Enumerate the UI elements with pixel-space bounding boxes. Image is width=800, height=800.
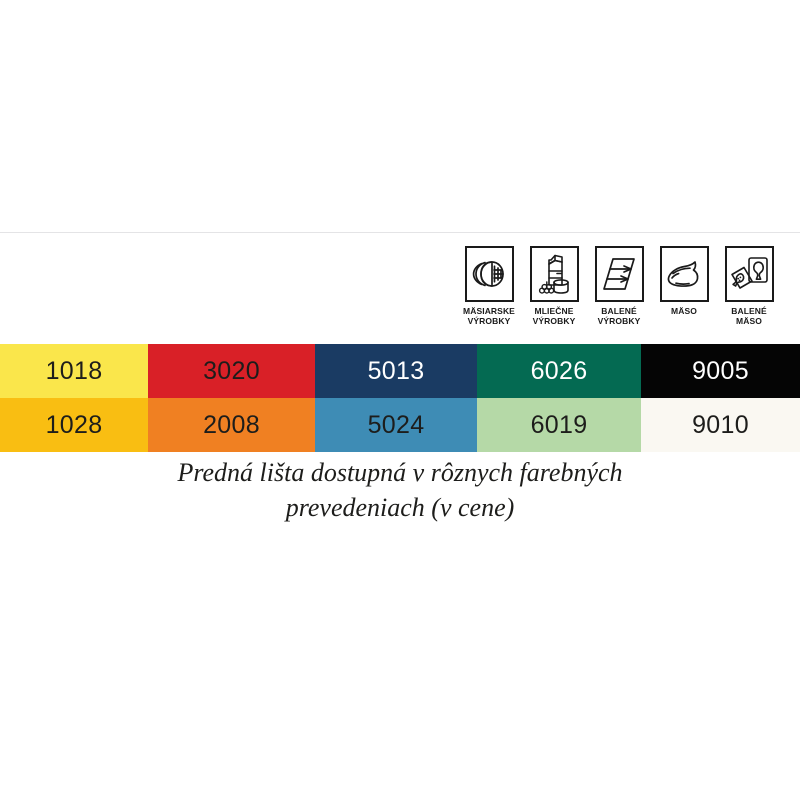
swatch-5013[interactable]: 5013	[315, 344, 477, 398]
category-label: MÄSIARSKE VÝROBKY	[463, 306, 515, 327]
category-label: MLIEČNE VÝROBKY	[533, 306, 576, 327]
swatch-6019[interactable]: 6019	[477, 398, 641, 452]
swatch-1028[interactable]: 1028	[0, 398, 148, 452]
swatch-9010[interactable]: 9010	[641, 398, 800, 452]
category-item-masiarske-vyrobky: MÄSIARSKE VÝROBKY	[460, 246, 518, 327]
product-category-icon-strip: MÄSIARSKE VÝROBKY	[460, 246, 800, 338]
category-item-maso: MÄSO	[655, 246, 713, 316]
milk-carton-cheese-icon	[530, 246, 579, 302]
ham-sliced-icon	[465, 246, 514, 302]
category-item-mliecne-vyrobky: MLIEČNE VÝROBKY	[525, 246, 583, 327]
packaged-goods-icon	[595, 246, 644, 302]
swatch-1018[interactable]: 1018	[0, 344, 148, 398]
category-item-balene-vyrobky: BALENÉ VÝROBKY	[590, 246, 648, 327]
swatch-9005[interactable]: 9005	[641, 344, 800, 398]
caption: Predná lišta dostupná v rôznych farebnýc…	[100, 456, 700, 525]
top-divider	[0, 232, 800, 233]
category-item-balene-maso: BALENÉ MÄSO	[720, 246, 778, 327]
swatch-5024[interactable]: 5024	[315, 398, 477, 452]
category-label: BALENÉ VÝROBKY	[598, 306, 641, 327]
poultry-icon	[660, 246, 709, 302]
swatch-3020[interactable]: 3020	[148, 344, 315, 398]
swatch-row: 1018 3020 5013 6026 9005	[0, 344, 800, 398]
packaged-meat-icon	[725, 246, 774, 302]
swatch-row: 1028 2008 5024 6019 9010	[0, 398, 800, 452]
caption-line-2: prevedeniach (v cene)	[100, 491, 700, 526]
caption-line-1: Predná lišta dostupná v rôznych farebnýc…	[100, 456, 700, 491]
product-color-options-panel: MÄSIARSKE VÝROBKY	[0, 0, 800, 800]
swatch-6026[interactable]: 6026	[477, 344, 641, 398]
category-label: MÄSO	[671, 306, 697, 316]
color-swatch-table: 1018 3020 5013 6026 9005 1028 2008 5024 …	[0, 344, 800, 452]
category-label: BALENÉ MÄSO	[731, 306, 767, 327]
swatch-2008[interactable]: 2008	[148, 398, 315, 452]
